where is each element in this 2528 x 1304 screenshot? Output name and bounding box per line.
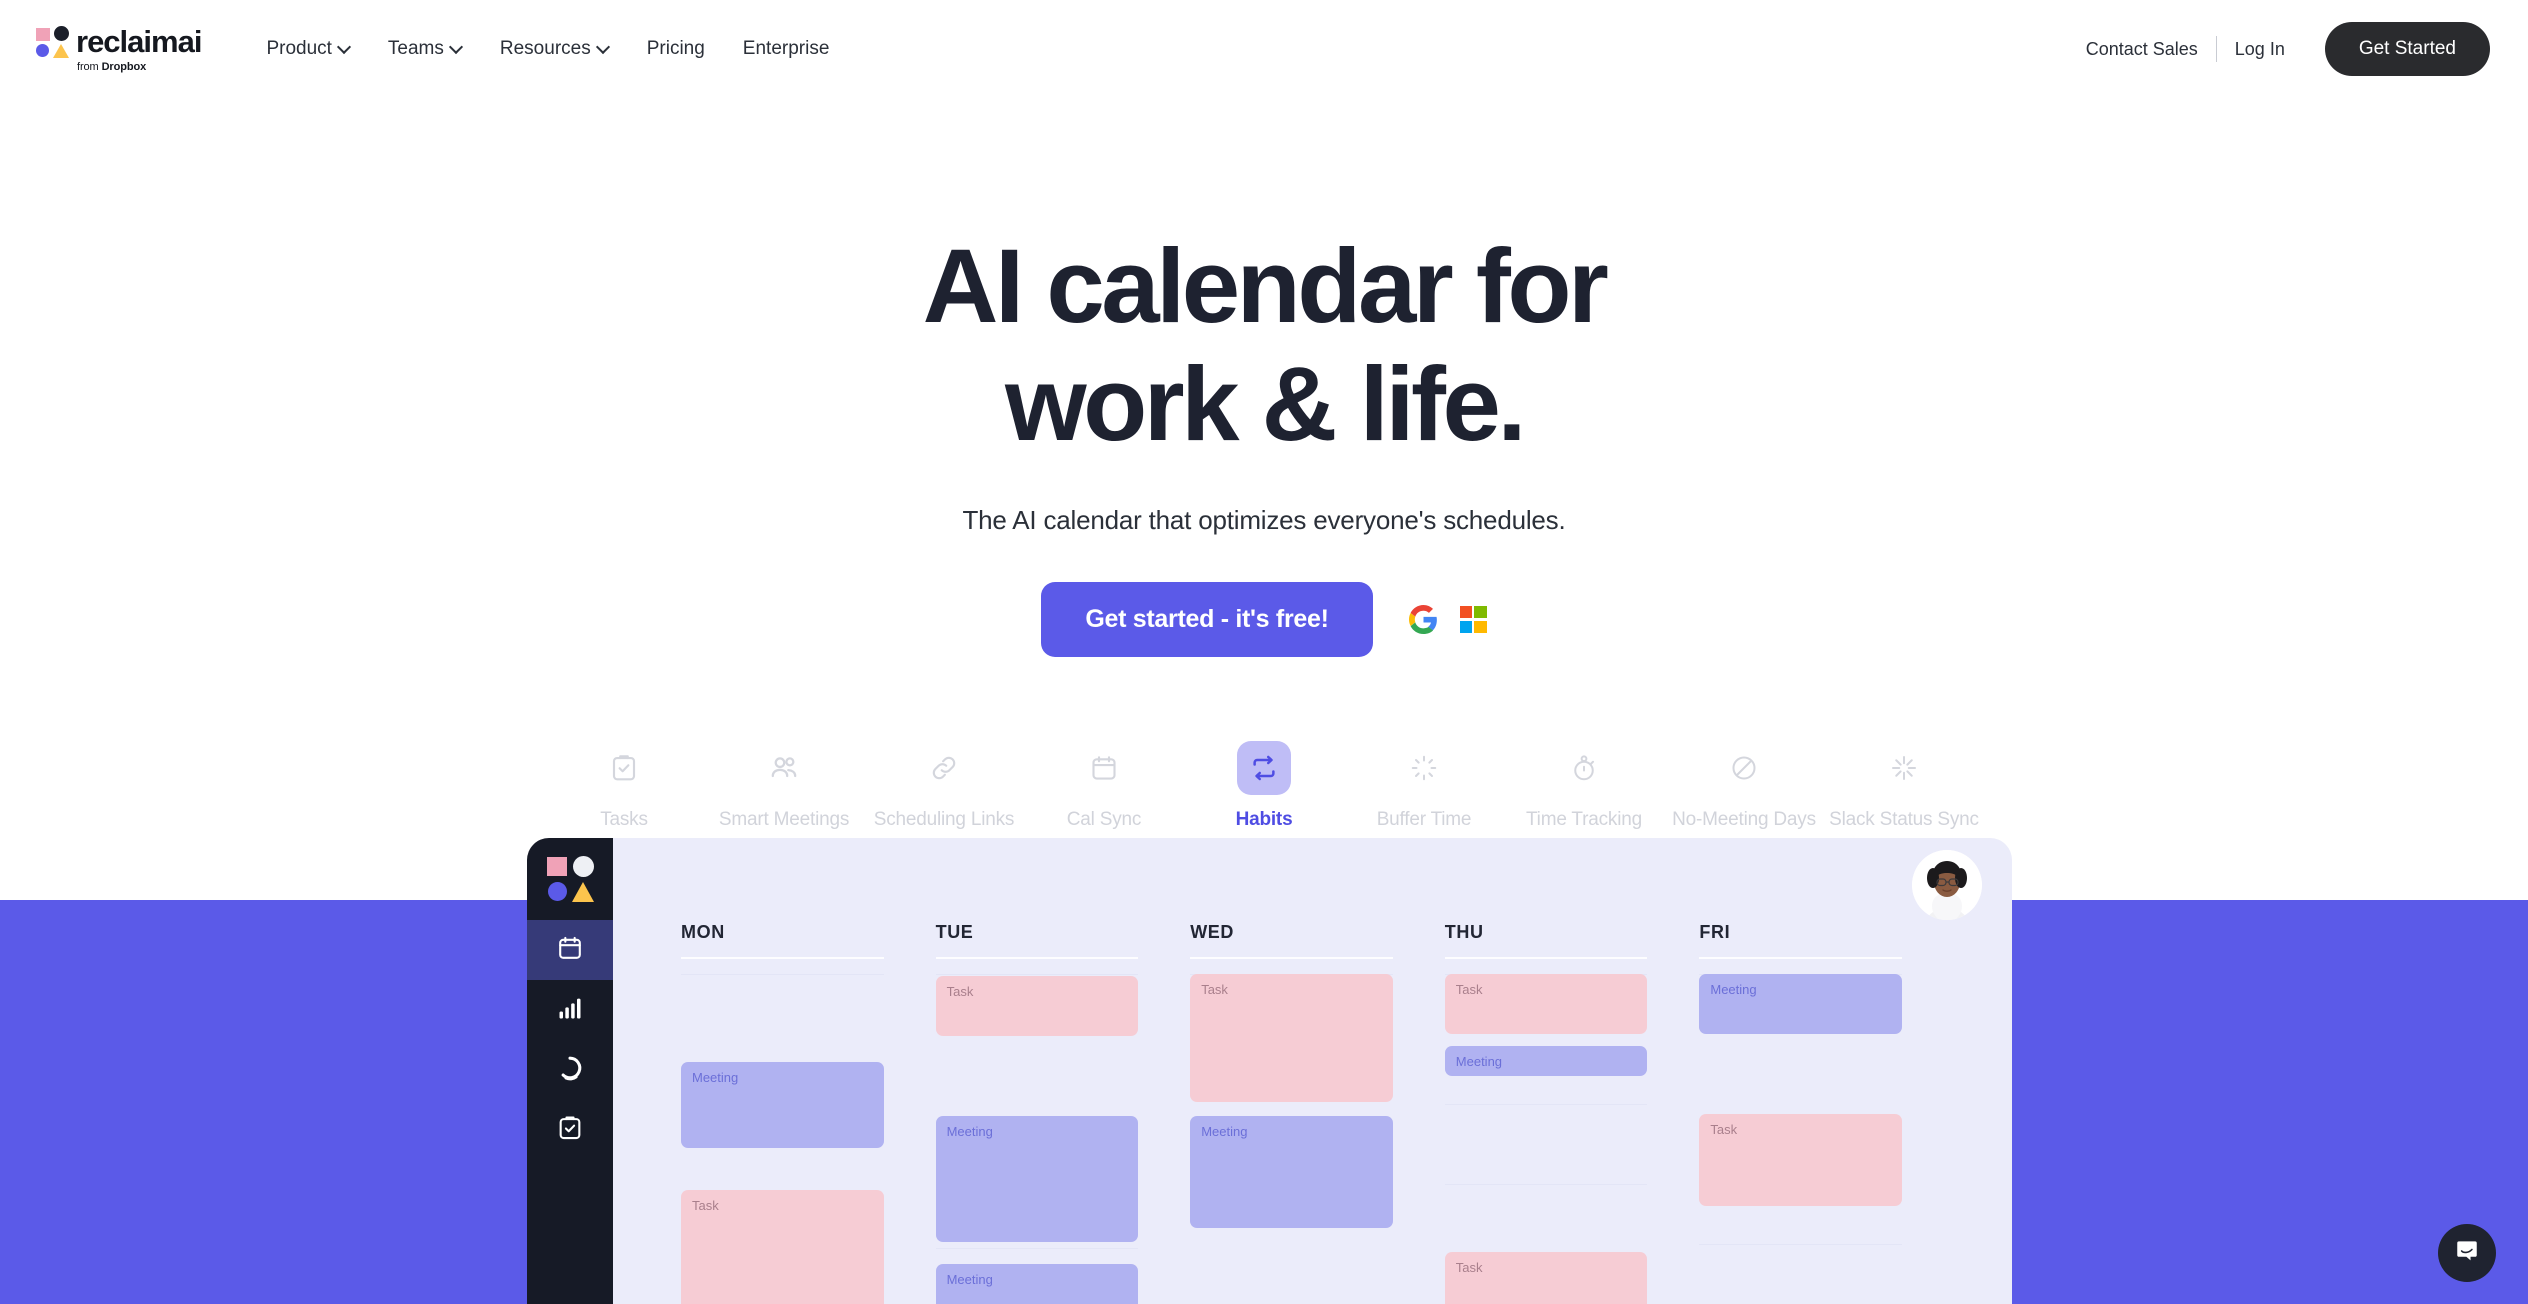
- nav-label: Pricing: [647, 38, 705, 60]
- microsoft-icon[interactable]: [1460, 606, 1487, 633]
- gridline: [1445, 1184, 1648, 1185]
- logo-tagline: from Dropbox: [77, 61, 146, 73]
- repeat-icon: [1237, 741, 1291, 795]
- logo-yellow-triangle: [572, 882, 594, 902]
- logo-yellow-triangle: [53, 44, 69, 58]
- app-preview: MON Meeting Task TUE Task Meeting Meetin…: [527, 838, 2012, 1304]
- people-icon: [757, 741, 811, 795]
- contact-sales-link[interactable]: Contact Sales: [2068, 39, 2216, 60]
- logo-dark-circle: [54, 26, 69, 41]
- tab-label: Habits: [1236, 807, 1293, 833]
- day-header: WED: [1190, 922, 1393, 943]
- log-in-link[interactable]: Log In: [2217, 39, 2303, 60]
- bar-chart-icon: [556, 994, 584, 1027]
- column-divider: [936, 957, 1139, 959]
- reclaim-logo-icon: [36, 26, 70, 58]
- logo-white-circle: [573, 856, 594, 877]
- tab-scheduling-links[interactable]: Scheduling Links: [864, 735, 1024, 833]
- get-started-free-button[interactable]: Get started - it's free!: [1041, 582, 1372, 657]
- nav-item-resources[interactable]: Resources: [481, 30, 628, 68]
- tab-label: Tasks: [600, 807, 648, 833]
- tab-label: Buffer Time: [1377, 807, 1472, 833]
- no-entry-icon: [1717, 741, 1771, 795]
- calendar-event-task[interactable]: Task: [1699, 1114, 1902, 1206]
- tab-smart-meetings[interactable]: Smart Meetings: [704, 735, 864, 833]
- nav-label: Resources: [500, 38, 591, 60]
- sidebar-item-stats[interactable]: [527, 1040, 613, 1100]
- calendar-event-meeting[interactable]: Meeting: [936, 1264, 1139, 1304]
- ms-square-blue: [1460, 621, 1472, 633]
- logo-blue-circle: [548, 882, 567, 901]
- tab-label: Cal Sync: [1067, 807, 1141, 833]
- day-header: MON: [681, 922, 884, 943]
- gridline: [936, 974, 1139, 975]
- logo-pink-square: [36, 28, 50, 41]
- column-divider: [1190, 957, 1393, 959]
- chevron-down-icon: [598, 42, 609, 53]
- google-icon[interactable]: [1409, 605, 1438, 634]
- sso-options: [1409, 605, 1487, 634]
- clipboard-check-icon: [597, 741, 651, 795]
- tab-buffer-time[interactable]: Buffer Time: [1344, 735, 1504, 833]
- sparkle-icon: [1397, 741, 1451, 795]
- donut-chart-icon: [556, 1054, 584, 1087]
- tab-no-meeting-days[interactable]: No-Meeting Days: [1664, 735, 1824, 833]
- calendar-event-task[interactable]: Task: [681, 1190, 884, 1304]
- logo-blue-circle: [36, 44, 49, 57]
- calendar-event-task[interactable]: Task: [1190, 974, 1393, 1102]
- column-divider: [681, 957, 884, 959]
- calendar-grid: MON Meeting Task TUE Task Meeting Meetin…: [613, 922, 2012, 1304]
- chat-widget-button[interactable]: [2438, 1224, 2496, 1282]
- calendar-column-fri: FRI Meeting Task: [1699, 922, 1954, 1304]
- feature-tabs: Tasks Smart Meetings: [0, 735, 2528, 833]
- gridline: [936, 1248, 1139, 1249]
- headline-line-1: AI calendar for: [923, 228, 1606, 345]
- calendar-event-task[interactable]: Task: [1445, 974, 1648, 1034]
- app-sidebar: [527, 838, 613, 1304]
- tab-label: Smart Meetings: [719, 807, 849, 833]
- avatar: [1912, 850, 1982, 920]
- gridline: [681, 974, 884, 975]
- reclaim-logo-icon: [547, 857, 593, 901]
- hero-section: AI calendar for work & life. The AI cale…: [0, 98, 2528, 833]
- nav-item-teams[interactable]: Teams: [369, 30, 481, 68]
- tab-habits[interactable]: Habits: [1184, 735, 1344, 833]
- main-nav: Product Teams Resources Pricing Enterpri…: [247, 30, 848, 68]
- tab-label: No-Meeting Days: [1672, 807, 1816, 833]
- header-actions: Contact Sales Log In Get Started: [2068, 22, 2490, 76]
- logo-pink-square: [547, 857, 567, 876]
- intercom-chat-icon: [2452, 1236, 2482, 1271]
- logo-wordmark: reclaimai: [76, 26, 201, 57]
- nav-label: Enterprise: [743, 38, 830, 60]
- column-divider: [1699, 957, 1902, 959]
- calendar-column-wed: WED Task Meeting: [1190, 922, 1445, 1304]
- ms-square-red: [1460, 606, 1472, 618]
- tab-time-tracking[interactable]: Time Tracking: [1504, 735, 1664, 833]
- ms-square-yellow: [1474, 621, 1486, 633]
- stopwatch-icon: [1557, 741, 1611, 795]
- day-header: FRI: [1699, 922, 1902, 943]
- tab-label: Slack Status Sync: [1829, 807, 1979, 833]
- calendar-event-meeting[interactable]: Meeting: [936, 1116, 1139, 1242]
- nav-label: Teams: [388, 38, 444, 60]
- calendar-event-meeting[interactable]: Meeting: [1445, 1046, 1648, 1076]
- tab-cal-sync[interactable]: Cal Sync: [1024, 735, 1184, 833]
- tab-label: Time Tracking: [1526, 807, 1642, 833]
- calendar-icon: [1077, 741, 1131, 795]
- page-title: AI calendar for work & life.: [0, 228, 2528, 463]
- day-header: TUE: [936, 922, 1139, 943]
- sidebar-item-calendar[interactable]: [527, 920, 613, 980]
- landing-page: reclaimai from Dropbox Product Teams Res…: [0, 0, 2528, 1304]
- link-icon: [917, 741, 971, 795]
- tab-tasks[interactable]: Tasks: [544, 735, 704, 833]
- clipboard-check-icon: [556, 1114, 584, 1147]
- tab-label: Scheduling Links: [874, 807, 1014, 833]
- headline-line-2: work & life.: [1005, 346, 1523, 463]
- calendar-column-mon: MON Meeting Task: [681, 922, 936, 1304]
- calendar-icon: [556, 934, 584, 967]
- chevron-down-icon: [451, 42, 462, 53]
- nav-item-product[interactable]: Product: [247, 30, 368, 68]
- calendar-event-meeting[interactable]: Meeting: [1699, 974, 1902, 1034]
- nav-item-pricing[interactable]: Pricing: [628, 30, 724, 68]
- get-started-button[interactable]: Get Started: [2325, 22, 2490, 76]
- calendar-event-task[interactable]: Task: [1445, 1252, 1648, 1304]
- hero-cta-row: Get started - it's free!: [0, 582, 2528, 657]
- sidebar-item-analytics[interactable]: [527, 980, 613, 1040]
- app-calendar-view: MON Meeting Task TUE Task Meeting Meetin…: [613, 838, 2012, 1304]
- gridline: [1699, 1244, 1902, 1245]
- calendar-event-meeting[interactable]: Meeting: [1190, 1116, 1393, 1228]
- calendar-event-task[interactable]: Task: [936, 976, 1139, 1036]
- site-header: reclaimai from Dropbox Product Teams Res…: [0, 0, 2528, 98]
- gridline: [1445, 1104, 1648, 1105]
- app-logo[interactable]: [527, 838, 613, 920]
- brand-logo[interactable]: reclaimai from Dropbox: [36, 26, 201, 73]
- nav-item-enterprise[interactable]: Enterprise: [724, 30, 849, 68]
- day-header: THU: [1445, 922, 1648, 943]
- calendar-event-meeting[interactable]: Meeting: [681, 1062, 884, 1148]
- ms-square-green: [1474, 606, 1486, 618]
- sidebar-item-tasks[interactable]: [527, 1100, 613, 1160]
- tab-slack-status-sync[interactable]: Slack Status Sync: [1824, 735, 1984, 833]
- calendar-column-tue: TUE Task Meeting Meeting: [936, 922, 1191, 1304]
- column-divider: [1445, 957, 1648, 959]
- hero-subtitle: The AI calendar that optimizes everyone'…: [0, 505, 2528, 536]
- chevron-down-icon: [339, 42, 350, 53]
- slack-asterisk-icon: [1877, 741, 1931, 795]
- nav-label: Product: [266, 38, 331, 60]
- calendar-column-thu: THU Task Meeting Task: [1445, 922, 1700, 1304]
